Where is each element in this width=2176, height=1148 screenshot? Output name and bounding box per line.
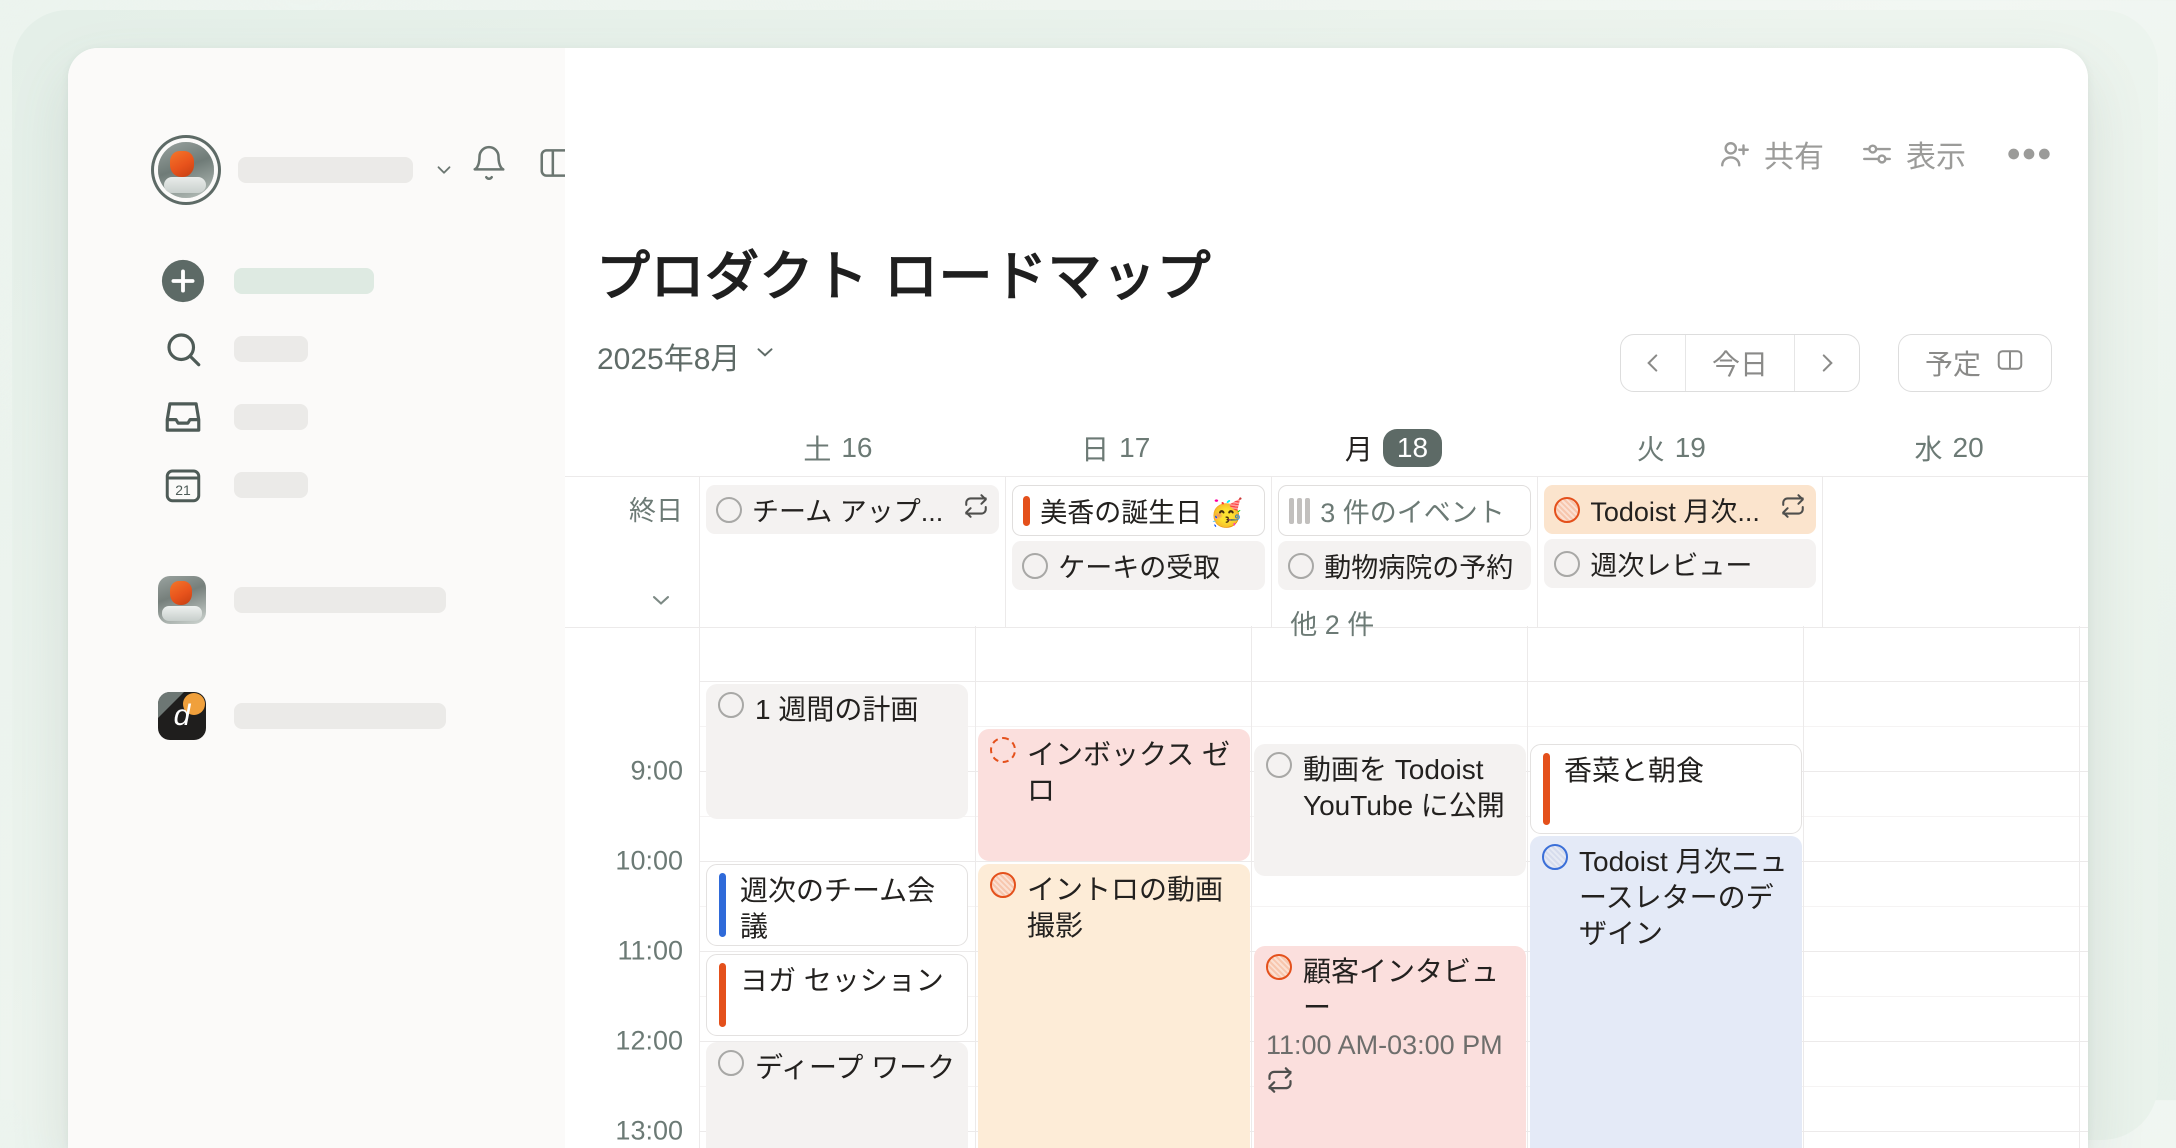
main-toolbar: 共有 表示 [1718, 132, 2052, 176]
time-grid: 9:00 10:00 11:00 12:00 13:00 [565, 626, 2088, 1148]
person-add-icon [1718, 137, 1752, 171]
main-content: 共有 表示 プロダクト ロードマップ 2025年8月 [565, 48, 2088, 1148]
event-time: 11:00 AM-03:00 PM [1266, 1028, 1514, 1063]
today-button[interactable]: 今日 [1685, 335, 1795, 391]
day-number: 17 [1119, 432, 1150, 464]
day-number: 18 [1383, 429, 1442, 467]
task-circle-icon[interactable] [716, 497, 742, 523]
share-label: 共有 [1764, 132, 1824, 176]
time-label: 11:00 [617, 936, 683, 967]
workspace-item-1[interactable] [158, 576, 446, 624]
chip-title: ケーキの受取 [1058, 546, 1220, 585]
event-title: 香菜と朝食 [1564, 753, 1789, 825]
chip-title: 動物病院の予約 [1324, 546, 1513, 585]
sidebar-item-label [234, 336, 308, 362]
task-circle-icon[interactable] [1266, 954, 1292, 980]
all-day-col-tue: Todoist 月次... 週次レビュー [1537, 477, 1822, 627]
add-task-button[interactable] [158, 256, 374, 306]
period-selector[interactable]: 2025年8月 [597, 334, 778, 378]
sidebar-item-search[interactable] [158, 324, 308, 374]
event-title: 週次のチーム会議 [740, 873, 955, 937]
event-color-bar [719, 963, 726, 1027]
workspace-item-2[interactable]: d [158, 692, 446, 740]
view-label: 表示 [1906, 132, 1966, 176]
day-number: 19 [1675, 432, 1706, 464]
chevron-down-icon [752, 339, 778, 373]
day-dow: 日 [1081, 428, 1109, 468]
expand-all-day-icon[interactable] [647, 586, 675, 619]
view-options-button[interactable]: 表示 [1860, 132, 1966, 176]
all-day-row: 終日 チーム アップ... [565, 476, 2088, 628]
workspace-label [234, 587, 446, 613]
schedule-view-button[interactable]: 予定 [1898, 334, 2052, 392]
page-frame: 21 d 共有 [0, 0, 2176, 1100]
schedule-label: 予定 [1925, 343, 1981, 383]
all-day-chip[interactable]: 動物病院の予約 [1278, 541, 1531, 590]
day-number: 20 [1953, 432, 1984, 464]
calendar-21-icon: 21 [158, 460, 208, 510]
repeat-icon [963, 493, 989, 526]
event-card[interactable]: 1 週間の計画 [706, 684, 968, 819]
avatar[interactable] [158, 142, 214, 198]
day-dow: 土 [803, 428, 831, 468]
task-circle-icon[interactable] [718, 692, 744, 718]
event-title: Todoist 月次ニュースレターのデザイン [1579, 844, 1790, 951]
time-gutter: 9:00 10:00 11:00 12:00 13:00 [565, 626, 699, 1148]
account-switcher[interactable] [158, 142, 455, 198]
event-title: インボックス ゼロ [1027, 737, 1238, 809]
sidebar-item-label [234, 472, 308, 498]
day-dow: 月 [1345, 428, 1373, 468]
more-options-button[interactable] [2006, 146, 2052, 162]
share-button[interactable]: 共有 [1718, 132, 1824, 176]
event-card[interactable]: 週次のチーム会議 [706, 864, 968, 946]
day-header-wed[interactable]: 水 20 [1810, 420, 2088, 476]
header-gutter [565, 420, 699, 476]
day-header-sat[interactable]: 土 16 [699, 420, 977, 476]
workspace-avatar-icon [158, 576, 206, 624]
time-label: 13:00 [615, 1116, 683, 1147]
add-task-label [234, 268, 374, 294]
sidebar-item-today[interactable]: 21 [158, 460, 308, 510]
stacked-bars-icon [1289, 498, 1310, 524]
day-header-sun[interactable]: 日 17 [977, 420, 1255, 476]
all-day-chip-grouped[interactable]: 3 件のイベント [1278, 485, 1531, 536]
repeat-icon [1780, 493, 1806, 526]
all-day-col-wed [1822, 477, 2088, 627]
task-circle-icon[interactable] [1266, 752, 1292, 778]
period-label: 2025年8月 [597, 334, 740, 378]
sidebar: 21 d [68, 48, 565, 1148]
app-window: 21 d 共有 [68, 48, 2088, 1148]
event-card[interactable]: 顧客インタビュー 11:00 AM-03:00 PM [1254, 946, 1526, 1148]
chip-title: 週次レビュー [1590, 544, 1752, 583]
all-day-col-sat: チーム アップ... [699, 477, 1005, 627]
task-circle-icon[interactable] [1554, 551, 1580, 577]
chip-title: 3 件のイベント [1320, 491, 1505, 530]
time-label: 12:00 [615, 1026, 683, 1057]
event-title: 動画を Todoist YouTube に公開 [1303, 752, 1514, 824]
all-day-col-sun: 美香の誕生日 🥳 ケーキの受取 [1005, 477, 1271, 627]
task-circle-icon[interactable] [718, 1050, 744, 1076]
task-circle-icon[interactable] [1542, 844, 1568, 870]
all-day-chip[interactable]: ケーキの受取 [1012, 541, 1265, 590]
ellipsis-icon [2006, 146, 2052, 162]
event-card[interactable]: インボックス ゼロ [978, 729, 1250, 861]
all-day-gutter: 終日 [565, 477, 699, 627]
notifications-bell-icon[interactable] [466, 140, 512, 186]
chevron-down-icon[interactable] [433, 159, 455, 181]
event-card[interactable]: 香菜と朝食 [1530, 744, 1802, 834]
date-navigation: 今日 [1620, 334, 1860, 392]
chip-title: チーム アップ... [752, 490, 943, 529]
event-card[interactable]: ディープ ワーク [706, 1042, 968, 1148]
event-card[interactable]: イントロの動画撮影 [978, 864, 1250, 1148]
all-day-chip[interactable]: チーム アップ... [706, 485, 999, 534]
event-card[interactable]: Todoist 月次ニュースレターのデザイン [1530, 836, 1802, 1148]
event-card[interactable]: ヨガ セッション [706, 954, 968, 1036]
doist-logo-icon: d [158, 692, 206, 740]
prev-week-button[interactable] [1621, 335, 1685, 391]
event-title: ディープ ワーク [755, 1050, 956, 1086]
inbox-icon [158, 392, 208, 442]
calendar: 土 16 日 17 月 18 火 19 [565, 420, 2088, 1148]
day-header-mon-today[interactable]: 月 18 [1255, 420, 1533, 476]
account-name-placeholder [238, 157, 413, 183]
sliders-icon [1860, 137, 1894, 171]
event-color-bar [719, 873, 726, 937]
next-week-button[interactable] [1795, 335, 1859, 391]
event-title: 1 週間の計画 [755, 692, 956, 728]
event-card[interactable]: 動画を Todoist YouTube に公開 [1254, 744, 1526, 876]
event-title: ヨガ セッション [740, 963, 955, 1027]
repeat-icon [1266, 1066, 1514, 1103]
all-day-chip[interactable]: 週次レビュー [1544, 539, 1816, 588]
page-title: プロダクト ロードマップ [596, 232, 1211, 311]
task-circle-icon[interactable] [990, 872, 1016, 898]
task-circle-icon[interactable] [990, 737, 1016, 763]
time-label: 9:00 [630, 756, 683, 787]
search-icon [158, 324, 208, 374]
svg-text:21: 21 [175, 482, 191, 498]
time-label: 10:00 [615, 846, 683, 877]
day-dow: 火 [1637, 428, 1665, 468]
all-day-chip[interactable]: 美香の誕生日 🥳 [1012, 485, 1265, 536]
event-color-bar [1023, 496, 1030, 526]
task-circle-icon[interactable] [1554, 497, 1580, 523]
day-header-row: 土 16 日 17 月 18 火 19 [565, 420, 2088, 476]
workspace-label [234, 703, 446, 729]
sidebar-item-inbox[interactable] [158, 392, 308, 442]
task-circle-icon[interactable] [1022, 553, 1048, 579]
task-circle-icon[interactable] [1288, 553, 1314, 579]
chip-title: 美香の誕生日 🥳 [1040, 491, 1243, 530]
chip-title: Todoist 月次... [1590, 490, 1760, 529]
event-title: 顧客インタビュー [1303, 954, 1514, 1026]
sidebar-item-label [234, 404, 308, 430]
event-title: イントロの動画撮影 [1027, 872, 1238, 944]
all-day-col-mon: 3 件のイベント 動物病院の予約 他 2 件 [1271, 477, 1537, 627]
day-dow: 水 [1915, 428, 1943, 468]
day-header-tue[interactable]: 火 19 [1532, 420, 1810, 476]
plus-icon [158, 256, 208, 306]
day-number: 16 [841, 432, 872, 464]
event-color-bar [1543, 753, 1550, 825]
all-day-label: 終日 [629, 489, 683, 528]
all-day-chip[interactable]: Todoist 月次... [1544, 485, 1816, 534]
panel-split-icon [1995, 345, 2025, 382]
